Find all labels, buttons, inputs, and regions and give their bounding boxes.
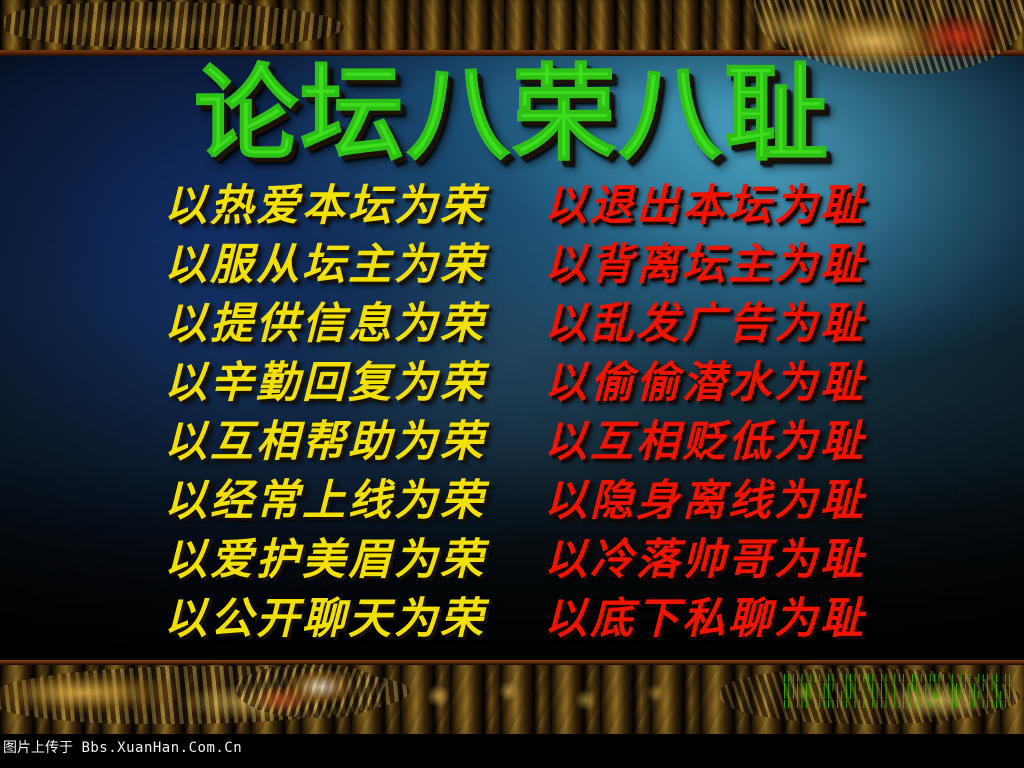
couplet-row: 以公开聊天为荣 以底下私聊为耻 (0, 589, 1024, 648)
couplet-row: 以互相帮助为荣 以互相贬低为耻 (0, 412, 1024, 471)
green-signature-overlay: ||||| ||| || |||||||| || ||| |||||||| | … (782, 674, 1014, 710)
poster-image: 论坛八荣八耻 以热爱本坛为荣 以退出本坛为耻 以服从坛主为荣 以背离坛主为耻 以… (0, 0, 1024, 768)
watermark-prefix: 图片上传于 (3, 740, 73, 756)
green-signature-line: ||||||| ||||| |||| ||||| | |||| || | |||… (782, 683, 1014, 692)
honor-line: 以提供信息为荣 (164, 299, 544, 349)
honor-line: 以热爱本坛为荣 (164, 181, 544, 231)
shame-line: 以背离坛主为耻 (544, 240, 924, 290)
shame-line: 以偷偷潜水为耻 (544, 358, 924, 408)
couplet-row: 以经常上线为荣 以隐身离线为耻 (0, 471, 1024, 530)
top-carved-border (0, 0, 1024, 56)
green-signature-line: ||||||| ||| ||||| | |||| | || ||| ||||||… (782, 691, 1014, 700)
bottom-border-rail (0, 660, 1024, 665)
honor-line: 以互相帮助为荣 (164, 417, 544, 467)
watermark: 图片上传于 Bbs.XuanHan.Com.Cn (3, 739, 242, 757)
couplet-row: 以辛勤回复为荣 以偷偷潜水为耻 (0, 353, 1024, 412)
green-signature-line: || ||| |||||||| ||| |||| |||| |||| || ||… (782, 700, 1014, 709)
couplet-row: 以服从坛主为荣 以背离坛主为耻 (0, 235, 1024, 294)
shame-line: 以互相贬低为耻 (544, 417, 924, 467)
shame-line: 以隐身离线为耻 (544, 476, 924, 526)
honor-line: 以爱护美眉为荣 (164, 535, 544, 585)
couplet-row: 以爱护美眉为荣 以冷落帅哥为耻 (0, 530, 1024, 589)
couplet-list: 以热爱本坛为荣 以退出本坛为耻 以服从坛主为荣 以背离坛主为耻 以提供信息为荣 … (0, 176, 1024, 648)
couplet-row: 以热爱本坛为荣 以退出本坛为耻 (0, 176, 1024, 235)
shame-line: 以冷落帅哥为耻 (544, 535, 924, 585)
couplet-row: 以提供信息为荣 以乱发广告为耻 (0, 294, 1024, 353)
shame-line: 以底下私聊为耻 (544, 594, 924, 644)
green-signature-line: ||||| ||| || |||||||| || ||| |||||||| | … (782, 674, 1014, 683)
shame-line: 以乱发广告为耻 (544, 299, 924, 349)
shame-line: 以退出本坛为耻 (544, 181, 924, 231)
watermark-url: Bbs.XuanHan.Com.Cn (81, 740, 242, 756)
page-title: 论坛八荣八耻 (0, 62, 1024, 166)
honor-line: 以辛勤回复为荣 (164, 358, 544, 408)
honor-line: 以经常上线为荣 (164, 476, 544, 526)
honor-line: 以服从坛主为荣 (164, 240, 544, 290)
honor-line: 以公开聊天为荣 (164, 594, 544, 644)
